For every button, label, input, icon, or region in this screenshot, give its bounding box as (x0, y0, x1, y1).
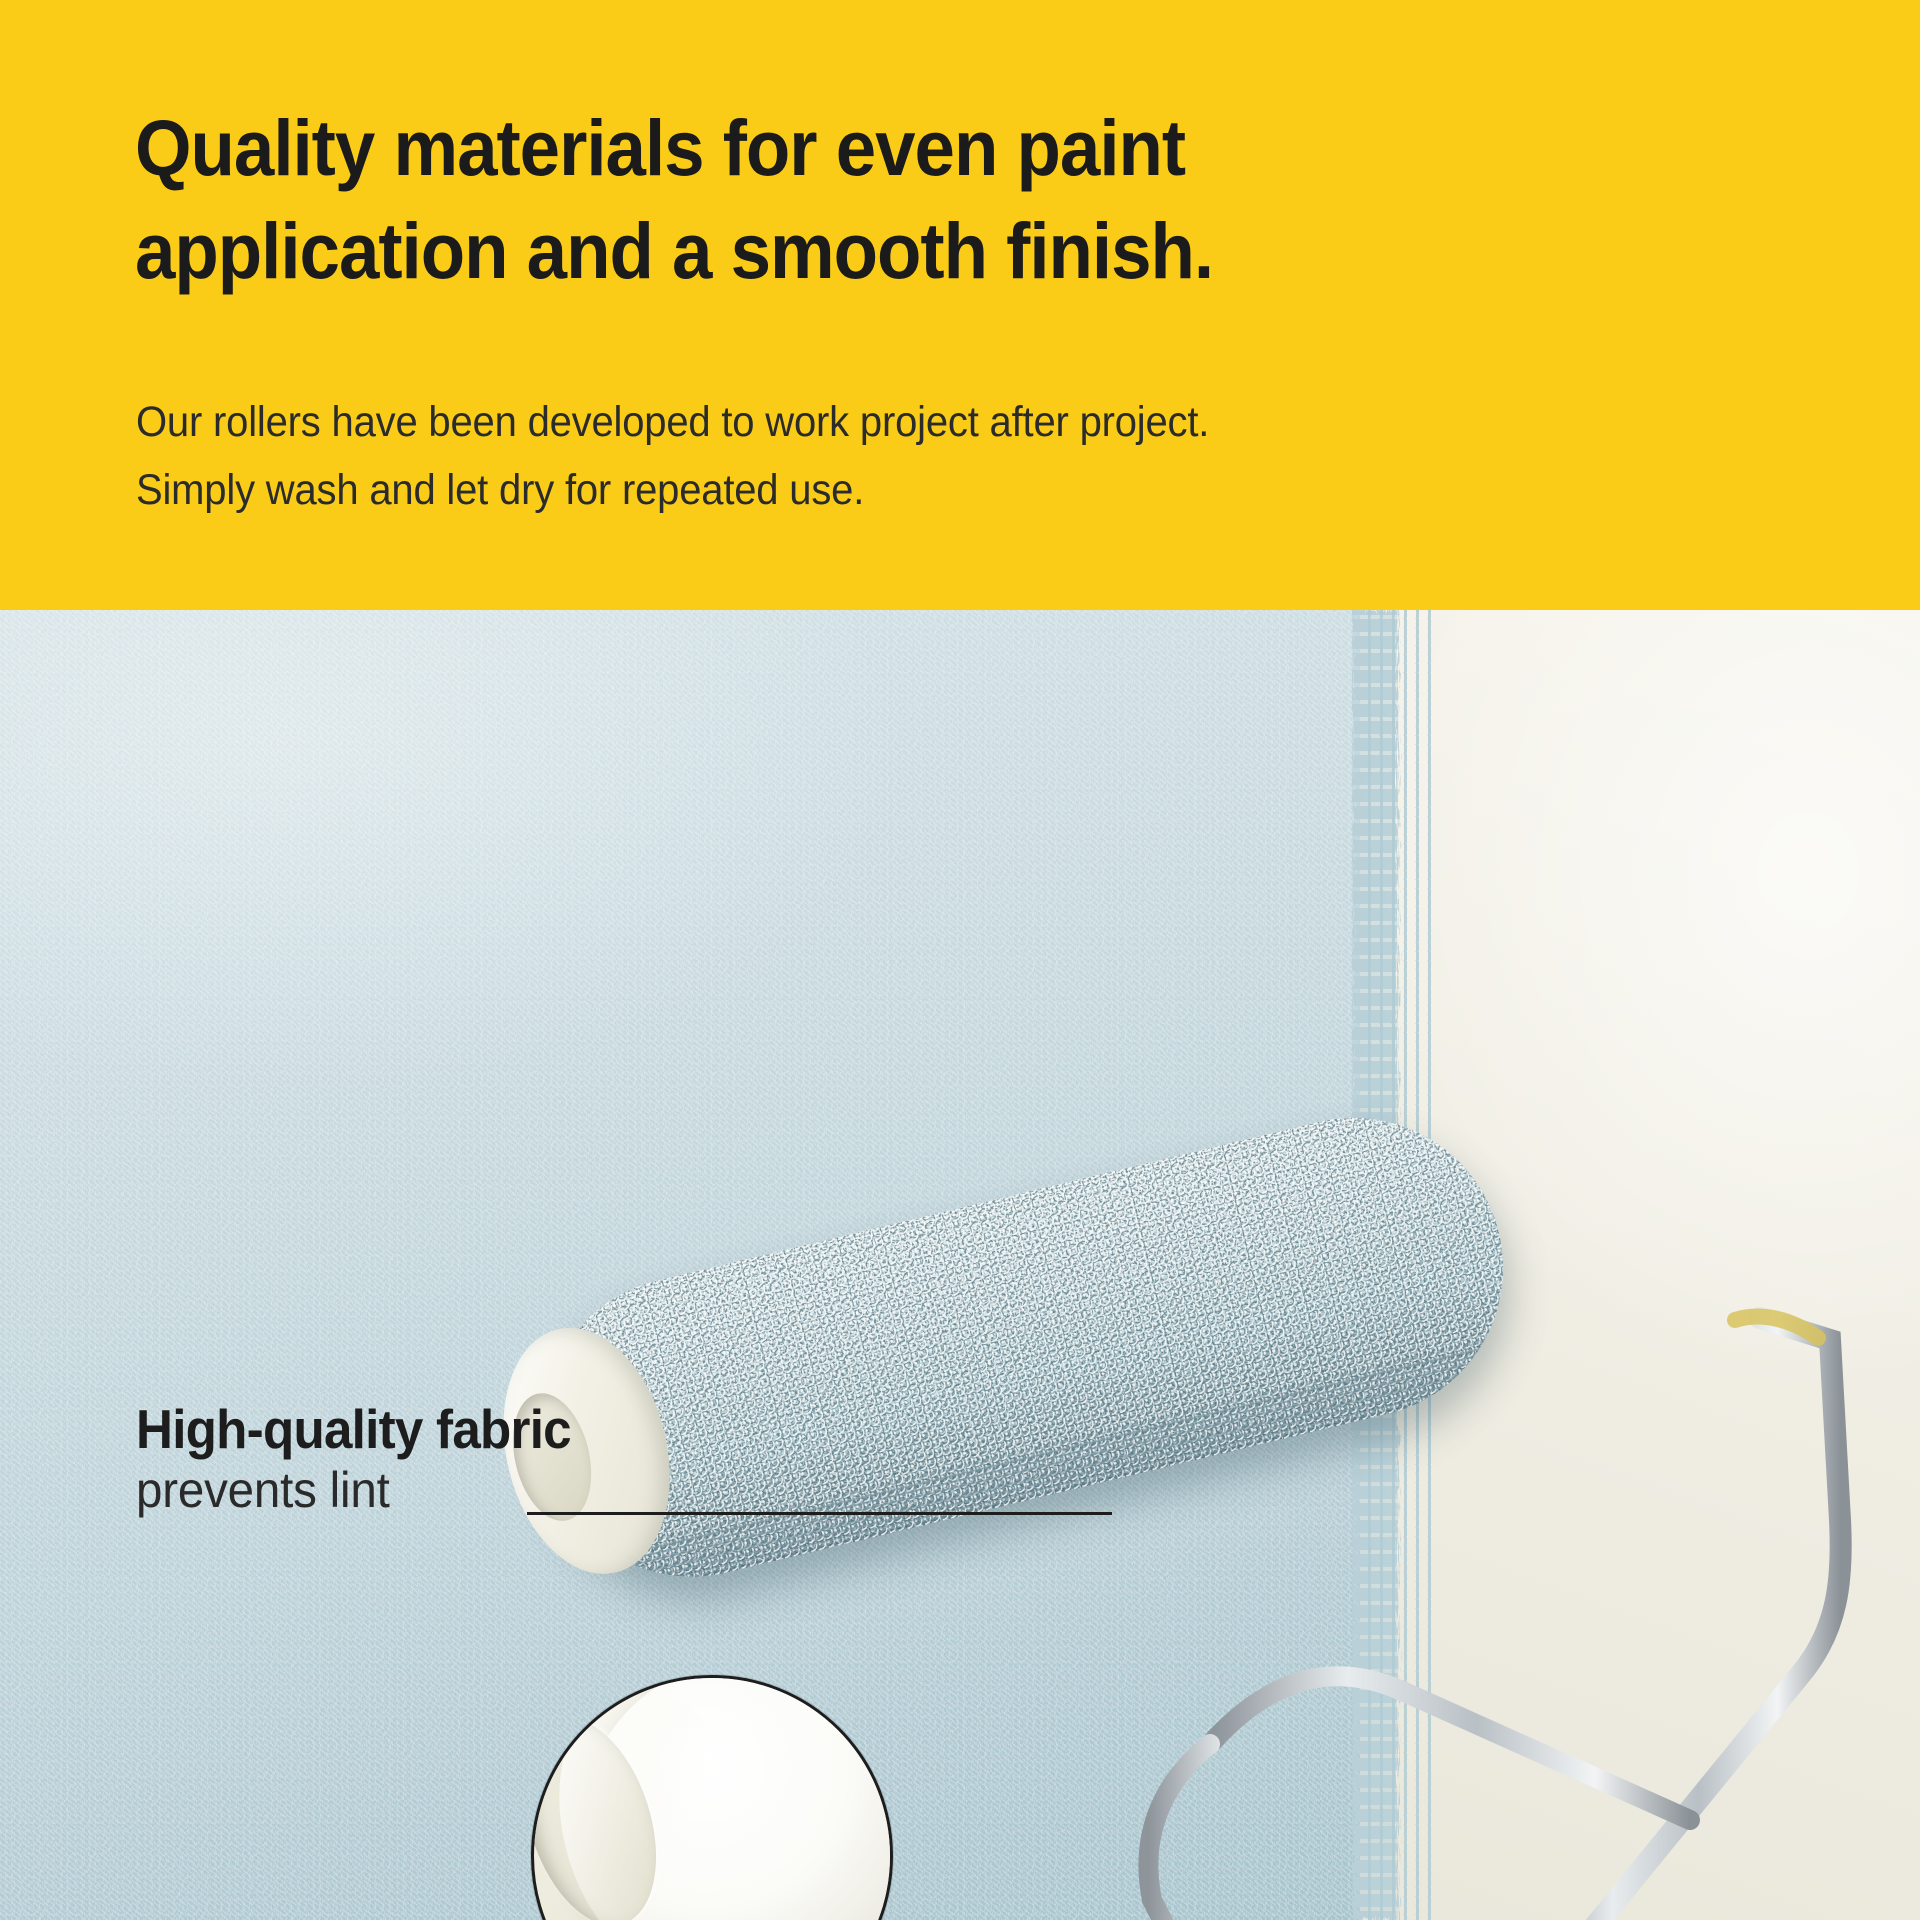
callout-label-fabric: High-quality fabric prevents lint (136, 1398, 604, 1520)
product-photo: High-quality fabric prevents lint Polypr… (0, 610, 1920, 1920)
leader-line-fabric (527, 1512, 1112, 1515)
page-title: Quality materials for even paint applica… (135, 96, 1515, 302)
callout-fabric-subtitle: prevents lint (136, 1460, 580, 1520)
infographic-panel: Quality materials for even paint applica… (0, 0, 1920, 1920)
core-detail-callout-circle (531, 1675, 893, 1920)
page-subtitle: Our rollers have been developed to work … (136, 388, 1587, 524)
callout-fabric-title: High-quality fabric (136, 1398, 571, 1460)
header-band: Quality materials for even paint applica… (0, 0, 1920, 610)
